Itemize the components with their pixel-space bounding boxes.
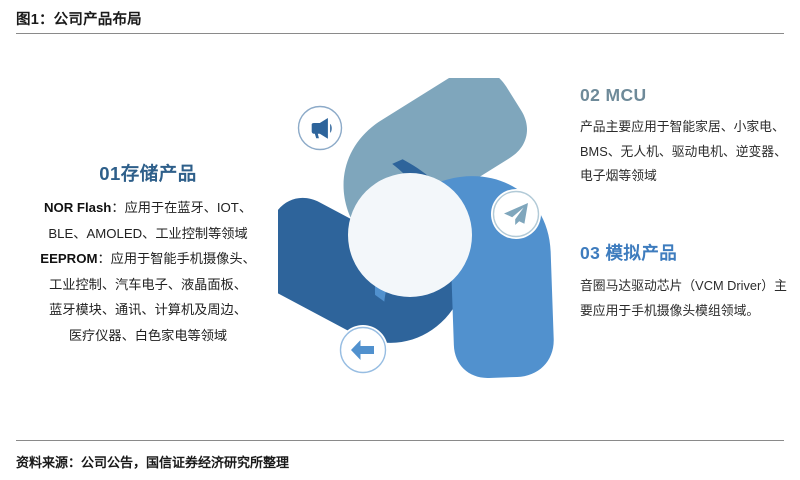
storage-term: EEPROM: [40, 251, 97, 266]
arrow-left-icon: [338, 325, 388, 375]
storage-heading: 01存储产品: [2, 160, 294, 186]
storage-line: NOR Flash：应用于在蓝牙、IOT、: [2, 195, 294, 221]
storage-text: 工业控制、汽车电子、液晶面板、: [49, 277, 247, 292]
storage-text: 医疗仪器、白色家电等领域: [69, 328, 227, 343]
analog-heading: 03 模拟产品: [580, 240, 795, 265]
analog-body: 音圈马达驱动芯片（VCM Driver）主要应用于手机摄像头模组领域。: [580, 274, 795, 323]
storage-text: 蓝牙模块、通讯、计算机及周边、: [49, 302, 247, 317]
mcu-text-block: 02 MCU 产品主要应用于智能家居、小家电、BMS、无人机、驱动电机、逆变器、…: [580, 85, 795, 189]
footer-divider: [16, 440, 784, 441]
storage-text-block: 01存储产品 NOR Flash：应用于在蓝牙、IOT、 BLE、AMOLED、…: [2, 160, 294, 348]
storage-text: 应用于在蓝牙、IOT、: [125, 200, 252, 215]
mcu-heading: 02 MCU: [580, 85, 795, 106]
figure-page: 图1：公司产品布局 01存储产品 NOR Flash：应用于在蓝牙、IOT、 B…: [0, 0, 800, 480]
storage-term: NOR Flash: [44, 200, 111, 215]
storage-text: BLE、AMOLED、工业控制等领域: [48, 226, 247, 241]
pinwheel-graphic: [278, 78, 578, 388]
storage-line: 医疗仪器、白色家电等领域: [2, 323, 294, 349]
storage-text: 应用于智能手机摄像头、: [111, 251, 256, 266]
storage-line: BLE、AMOLED、工业控制等领域: [2, 221, 294, 247]
source-note: 资料来源：公司公告，国信证券经济研究所整理: [16, 452, 289, 471]
storage-line: 工业控制、汽车电子、液晶面板、: [2, 272, 294, 298]
megaphone-icon: [296, 104, 344, 152]
storage-sep: ：: [111, 200, 124, 215]
header-divider: [16, 33, 784, 34]
figure-title: 图1：公司产品布局: [16, 8, 142, 29]
paper-plane-icon: [491, 189, 541, 239]
center-circle: [348, 173, 472, 297]
storage-sep: ：: [97, 251, 110, 266]
analog-text-block: 03 模拟产品 音圈马达驱动芯片（VCM Driver）主要应用于手机摄像头模组…: [580, 240, 795, 323]
storage-line: EEPROM：应用于智能手机摄像头、: [2, 246, 294, 272]
storage-line: 蓝牙模块、通讯、计算机及周边、: [2, 297, 294, 323]
mcu-body: 产品主要应用于智能家居、小家电、BMS、无人机、驱动电机、逆变器、电子烟等领域: [580, 115, 795, 189]
